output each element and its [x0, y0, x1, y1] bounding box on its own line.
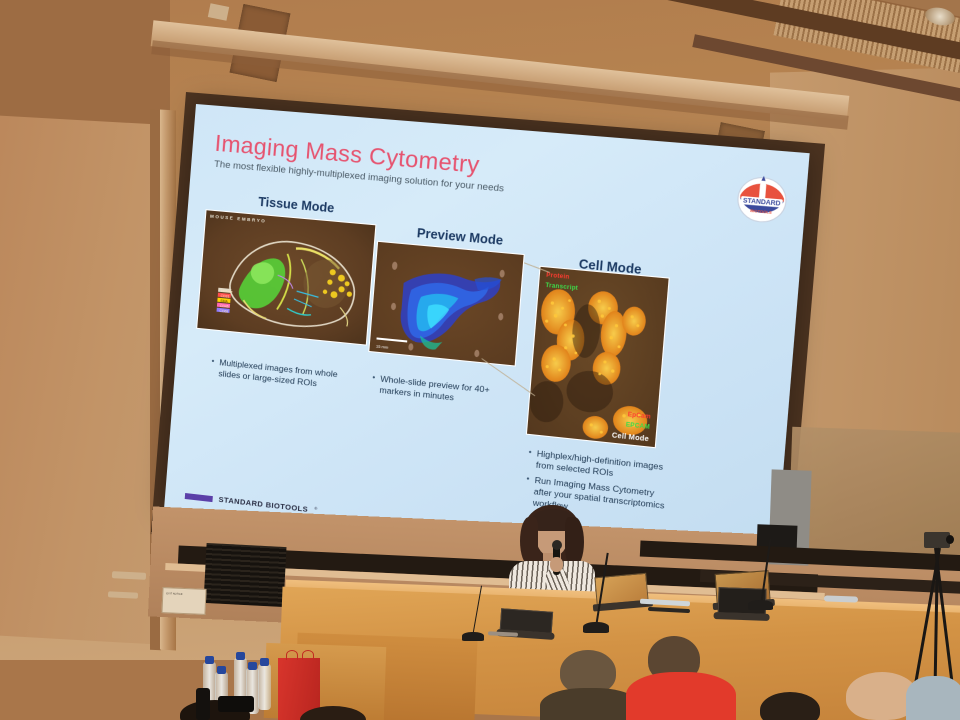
- presenter-hand: [550, 557, 563, 572]
- image-preview-mode: 15 mm: [368, 241, 524, 367]
- bottle-cap: [260, 658, 269, 666]
- presenter-hair-left: [520, 517, 538, 565]
- image-tissue-mode: MOUSE EMBRYO: [196, 209, 376, 345]
- logo-bar-icon: [185, 493, 213, 502]
- bottle-cap: [217, 666, 226, 674]
- presenter-hair-right: [565, 517, 584, 567]
- standard-biotools-badge-icon: STANDARD BIOTOOLS: [734, 173, 790, 225]
- bullet-dot: •: [371, 373, 376, 396]
- bullet-dot: •: [524, 474, 530, 509]
- bullet-dot: •: [210, 356, 215, 379]
- heading-tissue-mode: Tissue Mode: [258, 195, 335, 216]
- laptop-base: [713, 612, 769, 621]
- audience-head: [760, 692, 820, 720]
- trademark-symbol: ®: [314, 506, 317, 511]
- laptop-left[interactable]: [499, 608, 553, 646]
- image-cell-mode: Protein Transcript EpCam EPCAM Cell Mode: [526, 266, 670, 449]
- bag-handle: [286, 650, 298, 660]
- desk-item: [824, 595, 858, 602]
- bottle-cap: [248, 662, 257, 670]
- audience-shoulders: [540, 688, 640, 720]
- water-bottle: [258, 664, 271, 710]
- microphone-base: [583, 622, 609, 633]
- foreground-object: [218, 696, 254, 712]
- bottle-cap: [236, 652, 245, 660]
- slide-canvas: Imaging Mass Cytometry The most flexible…: [164, 104, 810, 582]
- lecture-hall-scene: Imaging Mass Cytometry The most flexible…: [0, 0, 960, 720]
- left-wall-panel: [0, 115, 165, 645]
- wall-sign: EXIT NOTICE: [161, 587, 206, 615]
- floor-vent: [203, 543, 286, 607]
- bullet-text: Whole-slide preview for 40+ markers in m…: [379, 374, 515, 411]
- bottle-cap: [205, 656, 214, 664]
- audience-red-top: [626, 672, 736, 720]
- audience-shoulders: [906, 676, 960, 720]
- bullets-tissue: • Multiplexed images from whole slides o…: [210, 356, 363, 397]
- legend-label: CD68: [219, 308, 228, 313]
- bullets-preview: • Whole-slide preview for 40+ markers in…: [371, 373, 515, 414]
- water-bottle-dark: [196, 688, 210, 720]
- scale-bar-label: 15 mm: [376, 344, 389, 350]
- bullet-dot: •: [527, 447, 532, 471]
- bag-handle: [302, 650, 314, 660]
- microphone-base: [462, 632, 484, 641]
- projected-slide: Imaging Mass Cytometry The most flexible…: [164, 104, 810, 582]
- camera-lens-icon: [946, 535, 954, 544]
- microphone-base: [748, 600, 773, 610]
- bullet-text: Multiplexed images from whole slides or …: [218, 357, 363, 394]
- microphone-head-icon: [552, 540, 562, 550]
